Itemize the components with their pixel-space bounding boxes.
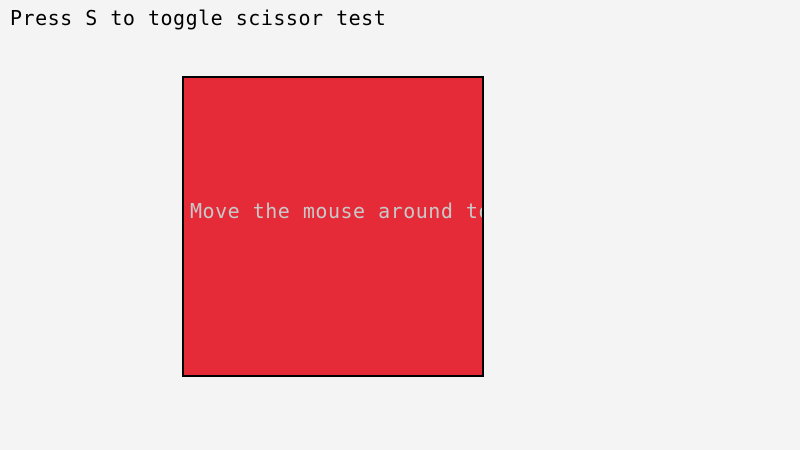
scissor-clip-region: Move the mouse around to reveal this tex…	[182, 76, 484, 377]
scissor-toggle-hint: Press S to toggle scissor test	[10, 7, 386, 29]
scissor-red-rectangle	[182, 76, 484, 377]
scissor-clipped-message: Move the mouse around to reveal this tex…	[190, 200, 484, 222]
app-window: Press S to toggle scissor test Move the …	[0, 0, 800, 450]
